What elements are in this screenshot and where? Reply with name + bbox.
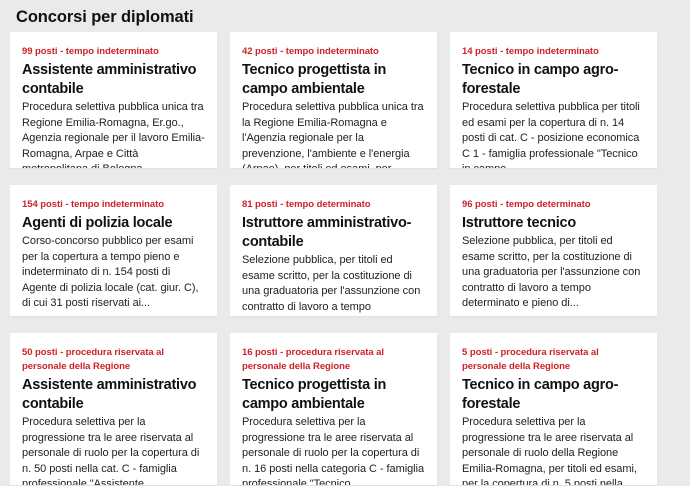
card-heading: Istruttore tecnico	[462, 214, 645, 233]
competition-card[interactable]: 81 posti - tempo determinato Istruttore …	[230, 185, 437, 316]
card-description: Procedura selettiva pubblica unica tra l…	[242, 100, 425, 168]
competition-card[interactable]: 42 posti - tempo indeterminato Tecnico p…	[230, 32, 437, 168]
competition-card[interactable]: 50 posti - procedura riservata al person…	[10, 333, 217, 485]
card-description: Procedura selettiva per la progressione …	[22, 415, 205, 485]
card-description: Procedura selettiva per la progressione …	[242, 415, 425, 485]
card-description: Selezione pubblica, per titoli ed esame …	[462, 234, 645, 312]
card-meta-label: 16 posti - procedura riservata al person…	[242, 346, 425, 374]
card-heading: Agenti di polizia locale	[22, 214, 205, 233]
competition-card-grid: 99 posti - tempo indeterminato Assistent…	[0, 32, 690, 485]
competition-card[interactable]: 14 posti - tempo indeterminato Tecnico i…	[450, 32, 657, 168]
card-heading: Tecnico progettista in campo ambientale	[242, 61, 425, 99]
competition-card[interactable]: 96 posti - tempo determinato Istruttore …	[450, 185, 657, 316]
card-meta-label: 42 posti - tempo indeterminato	[242, 45, 425, 59]
card-meta-label: 14 posti - tempo indeterminato	[462, 45, 645, 59]
card-heading: Tecnico progettista in campo ambientale	[242, 376, 425, 414]
page-container: Concorsi per diplomati 99 posti - tempo …	[0, 0, 690, 486]
competition-card[interactable]: 16 posti - procedura riservata al person…	[230, 333, 437, 485]
card-description: Procedura selettiva per la progressione …	[462, 415, 645, 485]
card-meta-label: 96 posti - tempo determinato	[462, 198, 645, 212]
card-heading: Istruttore amministrativo-contabile	[242, 214, 425, 252]
card-heading: Assistente amministrativo contabile	[22, 61, 205, 99]
card-meta-label: 5 posti - procedura riservata al persona…	[462, 346, 645, 374]
card-description: Procedura selettiva pubblica unica tra R…	[22, 100, 205, 168]
card-description: Procedura selettiva pubblica per titoli …	[462, 100, 645, 168]
card-meta-label: 81 posti - tempo determinato	[242, 198, 425, 212]
card-meta-label: 50 posti - procedura riservata al person…	[22, 346, 205, 374]
card-meta-label: 154 posti - tempo indeterminato	[22, 198, 205, 212]
card-description: Corso-concorso pubblico per esami per la…	[22, 234, 205, 312]
card-heading: Tecnico in campo agro-forestale	[462, 376, 645, 414]
page-title: Concorsi per diplomati	[0, 0, 690, 32]
competition-card[interactable]: 154 posti - tempo indeterminato Agenti d…	[10, 185, 217, 316]
card-meta-label: 99 posti - tempo indeterminato	[22, 45, 205, 59]
competition-card[interactable]: 99 posti - tempo indeterminato Assistent…	[10, 32, 217, 168]
card-heading: Assistente amministrativo contabile	[22, 376, 205, 414]
card-heading: Tecnico in campo agro-forestale	[462, 61, 645, 99]
competition-card[interactable]: 5 posti - procedura riservata al persona…	[450, 333, 657, 485]
card-description: Selezione pubblica, per titoli ed esame …	[242, 253, 425, 316]
